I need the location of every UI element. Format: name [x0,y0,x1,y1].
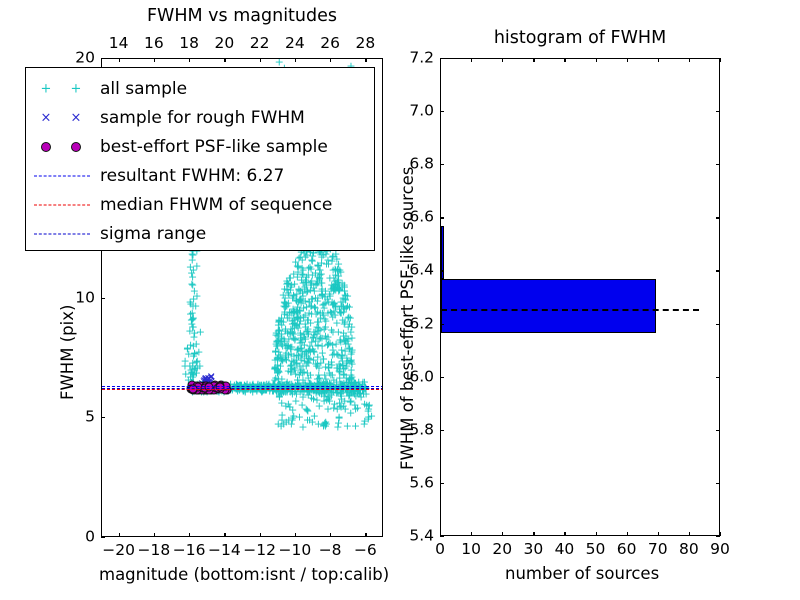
all-sample-point: + [286,323,295,334]
all-sample-point: + [202,385,211,396]
all-sample-point: + [187,279,196,290]
all-sample-point: + [293,312,302,323]
all-sample-point: + [253,379,262,390]
all-sample-point: + [312,377,321,388]
all-sample-point: + [345,344,354,355]
all-sample-point: + [349,377,358,388]
all-sample-point: + [327,384,336,395]
all-sample-point: + [257,385,266,396]
all-sample-point: + [286,341,295,352]
all-sample-point: + [361,383,370,394]
all-sample-point: + [278,353,287,364]
all-sample-point: + [186,380,195,391]
all-sample-point: + [311,381,320,392]
psf-sample-point [211,384,220,393]
all-sample-point: + [294,343,303,354]
all-sample-point: + [320,418,329,429]
rough-sample-point: × [201,372,210,383]
all-sample-point: + [296,366,305,377]
all-sample-point: + [232,380,241,391]
all-sample-point: + [345,374,354,385]
all-sample-point: + [286,383,295,394]
all-sample-point: + [218,379,227,390]
all-sample-point: + [237,379,246,390]
all-sample-point: + [302,302,311,313]
all-sample-point: + [336,401,345,412]
all-sample-point: + [289,290,298,301]
psf-sample-point [209,382,218,391]
all-sample-point: + [295,294,304,305]
legend-entry[interactable]: ××sample for rough FWHM [26,103,374,133]
all-sample-point: + [212,383,221,394]
right-ytick-mark-right [716,483,720,484]
legend-entry[interactable]: median FHWM of sequence [26,190,374,220]
all-sample-point: + [191,384,200,395]
all-sample-point: + [337,301,346,312]
all-sample-point: + [340,282,349,293]
all-sample-point: + [331,382,340,393]
all-sample-point: + [325,382,334,393]
all-sample-point: + [304,352,313,363]
all-sample-point: + [308,269,317,280]
all-sample-point: + [286,282,295,293]
all-sample-point: + [300,309,309,320]
all-sample-point: + [191,386,200,397]
dashed-line-icon [34,176,90,177]
all-sample-point: + [274,346,283,357]
all-sample-point: + [283,310,292,321]
all-sample-point: + [186,381,195,392]
all-sample-point: + [241,382,250,393]
all-sample-point: + [249,381,258,392]
psf-sample-point [188,385,197,394]
all-sample-point: + [189,264,198,275]
all-sample-point: + [333,276,342,287]
all-sample-point: + [334,417,343,428]
all-sample-point: + [319,310,328,321]
all-sample-point: + [340,304,349,315]
all-sample-point: + [236,384,245,395]
all-sample-point: + [313,278,322,289]
all-sample-point: + [309,354,318,365]
psf-sample-point [210,384,219,393]
all-sample-point: + [273,331,282,342]
all-sample-point: + [327,279,336,290]
all-sample-point: + [276,378,285,389]
right-top-xtick-mark [440,58,441,62]
all-sample-point: + [292,288,301,299]
all-sample-point: + [300,283,309,294]
all-sample-point: + [287,378,296,389]
all-sample-point: + [337,383,346,394]
all-sample-point: + [286,348,295,359]
all-sample-point: + [334,258,343,269]
all-sample-point: + [220,383,229,394]
legend-label: sample for rough FWHM [100,110,305,127]
all-sample-point: + [309,283,318,294]
all-sample-point: + [234,382,243,393]
all-sample-point: + [333,264,342,275]
all-sample-point: + [252,385,261,396]
all-sample-point: + [261,385,270,396]
all-sample-point: + [262,384,271,395]
all-sample-point: + [330,382,339,393]
all-sample-point: + [251,383,260,394]
all-sample-point: + [193,355,202,366]
all-sample-point: + [355,382,364,393]
all-sample-point: + [276,384,285,395]
right-xtick-mark [720,532,721,536]
legend-handle: ×× [26,105,100,131]
all-sample-point: + [325,288,334,299]
all-sample-point: + [339,368,348,379]
all-sample-point: + [187,267,196,278]
all-sample-point: + [327,360,336,371]
right-ytick-mark [440,536,444,537]
all-sample-point: + [283,328,292,339]
psf-sample-point [220,381,229,390]
all-sample-point: + [324,259,333,270]
all-sample-point: + [293,344,302,355]
all-sample-point: + [311,308,320,319]
all-sample-point: + [345,319,354,330]
left-xtick-mark [295,533,296,537]
all-sample-point: + [313,259,322,270]
right-xtick-mark [627,532,628,536]
legend-handle [26,192,100,218]
all-sample-point: + [313,351,322,362]
all-sample-point: + [295,338,304,349]
all-sample-point: + [304,269,313,280]
all-sample-point: + [282,278,291,289]
all-sample-point: + [337,382,346,393]
all-sample-point: + [321,416,330,427]
all-sample-point: + [354,380,363,391]
all-sample-point: + [325,367,334,378]
histogram-median-line [441,309,699,311]
all-sample-point: + [319,420,328,431]
all-sample-point: + [226,379,235,390]
all-sample-point: + [314,387,323,398]
all-sample-point: + [299,311,308,322]
all-sample-point: + [332,317,341,328]
all-sample-point: + [307,336,316,347]
all-sample-point: + [254,381,263,392]
all-sample-point: + [322,386,331,397]
all-sample-point: + [339,307,348,318]
all-sample-point: + [306,380,315,391]
all-sample-point: + [307,393,316,404]
right-ytick-label: 7.0 [392,103,434,119]
all-sample-point: + [301,276,310,287]
all-sample-point: + [248,380,257,391]
all-sample-point: + [222,385,231,396]
all-sample-point: + [355,384,364,395]
all-sample-point: + [245,382,254,393]
all-sample-point: + [273,368,282,379]
all-sample-point: + [297,275,306,286]
all-sample-point: + [319,383,328,394]
all-sample-point: + [301,319,310,330]
all-sample-point: + [286,327,295,338]
all-sample-point: + [288,318,297,329]
all-sample-point: + [333,349,342,360]
all-sample-point: + [280,379,289,390]
all-sample-point: + [308,256,317,267]
all-sample-point: + [287,360,296,371]
all-sample-point: + [199,386,208,397]
all-sample-point: + [192,368,201,379]
all-sample-point: + [238,382,247,393]
all-sample-point: + [295,361,304,372]
psf-sample-point [220,383,229,392]
all-sample-point: + [307,294,316,305]
psf-sample-point [194,383,203,392]
all-sample-point: + [313,271,322,282]
all-sample-point: + [293,267,302,278]
all-sample-point: + [329,285,338,296]
all-sample-point: + [336,307,345,318]
all-sample-point: + [358,385,367,396]
right-ytick-mark [440,270,444,271]
all-sample-point: + [186,383,195,394]
all-sample-point: + [296,327,305,338]
psf-sample-point [213,385,222,394]
psf-sample-point [214,384,223,393]
all-sample-point: + [290,362,299,373]
all-sample-point: + [347,347,356,358]
all-sample-point: + [340,396,349,407]
all-sample-point: + [187,367,196,378]
psf-sample-point [217,381,226,390]
all-sample-point: + [224,381,233,392]
all-sample-point: + [336,266,345,277]
psf-sample-point [219,383,228,392]
all-sample-point: + [219,386,228,397]
all-sample-point: + [197,386,206,397]
all-sample-point: + [362,399,371,410]
all-sample-point: + [274,418,283,429]
all-sample-point: + [320,324,329,335]
psf-sample-point [205,384,214,393]
all-sample-point: + [266,380,275,391]
all-sample-point: + [296,315,305,326]
legend-box: ++all sample××sample for rough FWHMbest-… [25,67,375,251]
psf-sample-point [197,385,206,394]
all-sample-point: + [360,376,369,387]
legend-entry[interactable]: sigma range [26,219,374,249]
all-sample-point: + [188,378,197,389]
dashdot-line-icon [34,234,90,235]
psf-sample-point [194,385,203,394]
all-sample-point: + [240,385,249,396]
psf-sample-point [206,381,215,390]
all-sample-point: + [271,347,280,358]
all-sample-point: + [282,377,291,388]
left-top-xtick-label: 24 [285,36,305,52]
all-sample-point: + [355,381,364,392]
all-sample-point: + [288,387,297,398]
all-sample-point: + [242,379,251,390]
all-sample-point: + [329,386,338,397]
all-sample-point: + [275,325,284,336]
all-sample-point: + [329,306,338,317]
all-sample-point: + [274,315,283,326]
all-sample-point: + [343,312,352,323]
all-sample-point: + [277,353,286,364]
psf-sample-point [209,386,218,395]
all-sample-point: + [331,309,340,320]
legend-entry[interactable]: resultant FWHM: 6.27 [26,161,374,191]
all-sample-point: + [339,401,348,412]
right-panel-title: histogram of FWHM [494,30,666,48]
all-sample-point: + [320,383,329,394]
all-sample-point: + [195,383,204,394]
right-top-xtick-mark [533,58,534,62]
all-sample-point: + [293,261,302,272]
all-sample-point: + [319,250,328,261]
psf-sample-point [215,382,224,391]
all-sample-point: + [280,308,289,319]
all-sample-point: + [260,379,269,390]
legend-handle [26,134,100,160]
all-sample-point: + [288,307,297,318]
psf-sample-point [216,385,225,394]
all-sample-point: + [315,372,324,383]
all-sample-point: + [298,291,307,302]
all-sample-point: + [337,307,346,318]
right-xtick-label: 20 [492,542,512,558]
left-ytick-mark [101,58,105,59]
all-sample-point: + [231,383,240,394]
all-sample-point: + [303,286,312,297]
all-sample-point: + [313,295,322,306]
psf-sample-point [203,384,212,393]
legend-entry[interactable]: ++all sample [26,74,374,104]
legend-entry[interactable]: best-effort PSF-like sample [26,132,374,162]
all-sample-point: + [310,346,319,357]
all-sample-point: + [320,291,329,302]
right-xtick-label: 80 [679,542,699,558]
all-sample-point: + [304,315,313,326]
legend-handle: ++ [26,76,100,102]
psf-sample-point [211,384,220,393]
all-sample-point: + [283,380,292,391]
left-top-xtick-mark [295,58,296,62]
all-sample-point: + [216,382,225,393]
psf-sample-point [191,383,200,392]
all-sample-point: + [193,379,202,390]
all-sample-point: + [303,315,312,326]
all-sample-point: + [264,379,273,390]
all-sample-point: + [257,381,266,392]
psf-sample-point [205,384,214,393]
all-sample-point: + [280,335,289,346]
all-sample-point: + [188,381,197,392]
psf-sample-point [205,384,214,393]
all-sample-point: + [335,367,344,378]
psf-sample-point [201,385,210,394]
all-sample-point: + [277,328,286,339]
rough-sample-point: × [201,376,210,387]
all-sample-point: + [312,387,321,398]
all-sample-point: + [270,383,279,394]
all-sample-point: + [269,380,278,391]
all-sample-point: + [287,307,296,318]
all-sample-point: + [196,380,205,391]
psf-sample-point [209,381,218,390]
all-sample-point: + [228,383,237,394]
all-sample-point: + [301,347,310,358]
all-sample-point: + [332,349,341,360]
all-sample-point: + [272,386,281,397]
left-xtick-label: −14 [208,543,241,559]
all-sample-point: + [219,382,228,393]
all-sample-point: + [208,386,217,397]
all-sample-point: + [323,332,332,343]
all-sample-point: + [334,327,343,338]
left-ytick-label: 20 [55,50,95,66]
all-sample-point: + [185,296,194,307]
legend-label: best-effort PSF-like sample [100,139,328,156]
all-sample-point: + [338,314,347,325]
all-sample-point: + [349,377,358,388]
all-sample-point: + [326,307,335,318]
all-sample-point: + [277,339,286,350]
all-sample-point: + [360,384,369,395]
all-sample-point: + [274,382,283,393]
all-sample-point: + [307,275,316,286]
right-xtick-mark [596,532,597,536]
psf-sample-point [201,383,210,392]
all-sample-point: + [233,385,242,396]
all-sample-point: + [273,383,282,394]
all-sample-point: + [341,290,350,301]
all-sample-point: + [282,386,291,397]
all-sample-point: + [350,382,359,393]
all-sample-point: + [321,373,330,384]
psf-sample-point [199,382,208,391]
all-sample-point: + [299,277,308,288]
all-sample-point: + [187,314,196,325]
all-sample-point: + [305,377,314,388]
psf-sample-point [198,384,207,393]
all-sample-point: + [281,386,290,397]
all-sample-point: + [288,318,297,329]
all-sample-point: + [269,380,278,391]
all-sample-point: + [305,296,314,307]
all-sample-point: + [324,385,333,396]
all-sample-point: + [284,298,293,309]
all-sample-point: + [341,330,350,341]
all-sample-point: + [309,327,318,338]
all-sample-point: + [352,381,361,392]
all-sample-point: + [292,358,301,369]
all-sample-point: + [291,382,300,393]
all-sample-point: + [282,382,291,393]
all-sample-point: + [330,348,339,359]
all-sample-point: + [208,384,217,395]
all-sample-point: + [298,255,307,266]
all-sample-point: + [277,320,286,331]
all-sample-point: + [321,383,330,394]
all-sample-point: + [339,377,348,388]
all-sample-point: + [312,280,321,291]
psf-sample-point [209,383,218,392]
all-sample-point: + [340,317,349,328]
right-xtick-mark [689,532,690,536]
psf-sample-point [209,383,218,392]
